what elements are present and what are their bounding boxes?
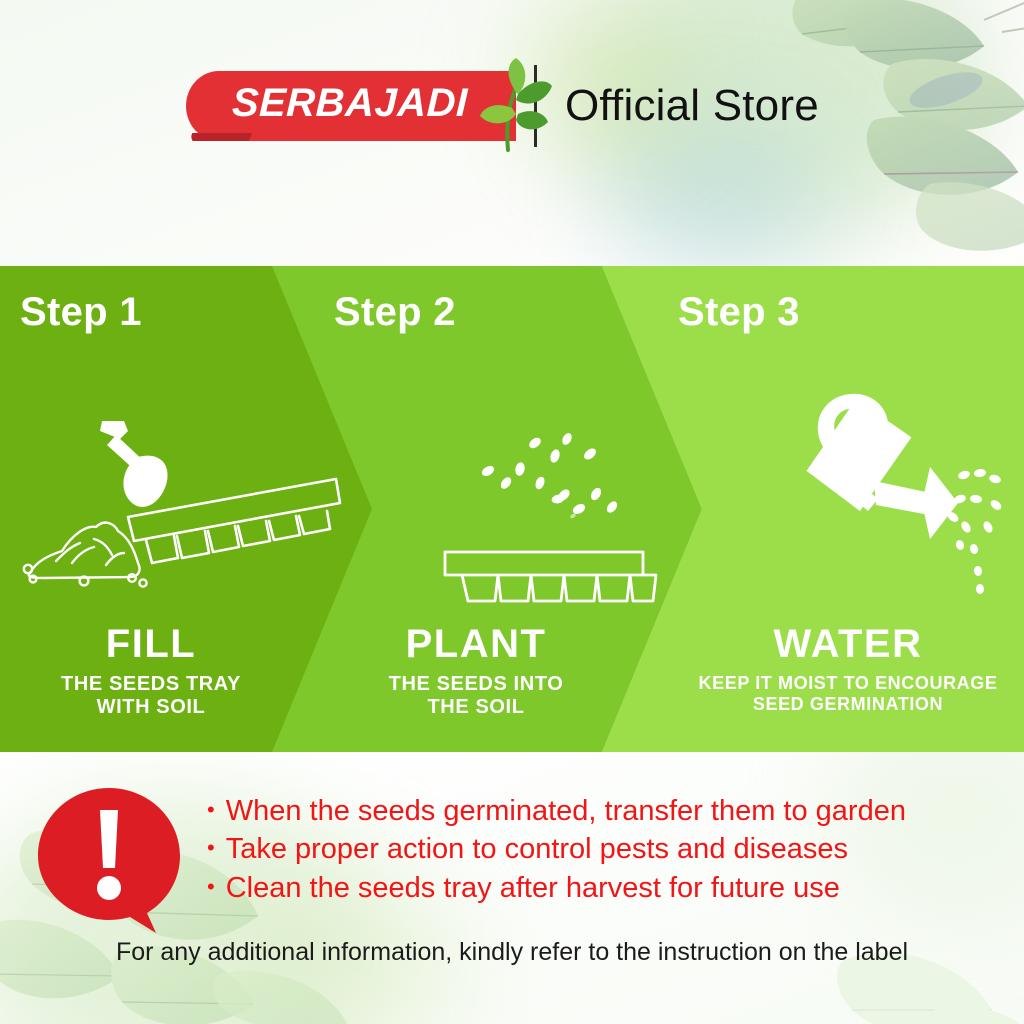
step-1-title: FILL xyxy=(10,624,292,664)
step-3-subtitle-line2: SEED GERMINATION xyxy=(672,694,1024,715)
step-3-caption: WATER KEEP IT MOIST TO ENCOURAGE SEED GE… xyxy=(672,624,1024,715)
brand-logo: SERBAJADI xyxy=(186,62,526,150)
notes-section: • When the seeds germinated, transfer th… xyxy=(0,752,1024,1024)
promo-infographic-page: SERBAJADI Official Store Step 1 Step 2 S… xyxy=(0,0,1024,1024)
bullet-text: Take proper action to control pests and … xyxy=(226,830,848,868)
page-header: SERBAJADI Official Store xyxy=(0,0,1024,266)
official-store-label: Official Store xyxy=(565,81,819,131)
step-1-caption: FILL THE SEEDS TRAY WITH SOIL xyxy=(10,624,292,719)
bullet-text: When the seeds germinated, transfer them… xyxy=(226,792,906,830)
step-3-subtitle: KEEP IT MOIST TO ENCOURAGE SEED GERMINAT… xyxy=(672,673,1024,715)
brand-bar: SERBAJADI Official Store xyxy=(186,62,819,150)
step-2-title: PLANT xyxy=(332,624,620,664)
list-item: • Take proper action to control pests an… xyxy=(207,830,1017,868)
watering-can-icon xyxy=(790,371,1024,616)
step-2-subtitle: THE SEEDS INTO THE SOIL xyxy=(332,673,620,719)
bullet-marker-icon: • xyxy=(207,837,215,859)
step-3-label: Step 3 xyxy=(678,290,800,335)
seedling-leaves-icon xyxy=(472,58,552,154)
falling-seeds-seedtray-icon xyxy=(440,421,700,616)
exclamation-speech-bubble-icon xyxy=(34,784,184,934)
step-2-subtitle-line2: THE SOIL xyxy=(332,696,620,719)
shovel-soil-seedtray-icon xyxy=(6,391,356,591)
step-1-subtitle: THE SEEDS TRAY WITH SOIL xyxy=(10,673,292,719)
step-1-subtitle-line1: THE SEEDS TRAY xyxy=(10,673,292,696)
step-1-subtitle-line2: WITH SOIL xyxy=(10,696,292,719)
step-2-label: Step 2 xyxy=(334,290,456,335)
brand-name-text: SERBAJADI xyxy=(231,81,468,126)
step-3-title: WATER xyxy=(672,624,1024,664)
footnote-text: For any additional information, kindly r… xyxy=(0,938,1024,967)
step-2-caption: PLANT THE SEEDS INTO THE SOIL xyxy=(332,624,620,719)
step-3-subtitle-line1: KEEP IT MOIST TO ENCOURAGE xyxy=(672,673,1024,694)
list-item: • Clean the seeds tray after harvest for… xyxy=(207,869,1017,907)
bullet-text: Clean the seeds tray after harvest for f… xyxy=(226,869,840,907)
steps-banner: Step 1 Step 2 Step 3 xyxy=(0,266,1024,752)
step-2-subtitle-line1: THE SEEDS INTO xyxy=(332,673,620,696)
step-1-label: Step 1 xyxy=(20,290,142,335)
bullet-marker-icon: • xyxy=(207,799,215,821)
bullet-marker-icon: • xyxy=(207,876,215,898)
list-item: • When the seeds germinated, transfer th… xyxy=(207,792,1017,830)
notes-bullet-list: • When the seeds germinated, transfer th… xyxy=(207,792,1017,907)
